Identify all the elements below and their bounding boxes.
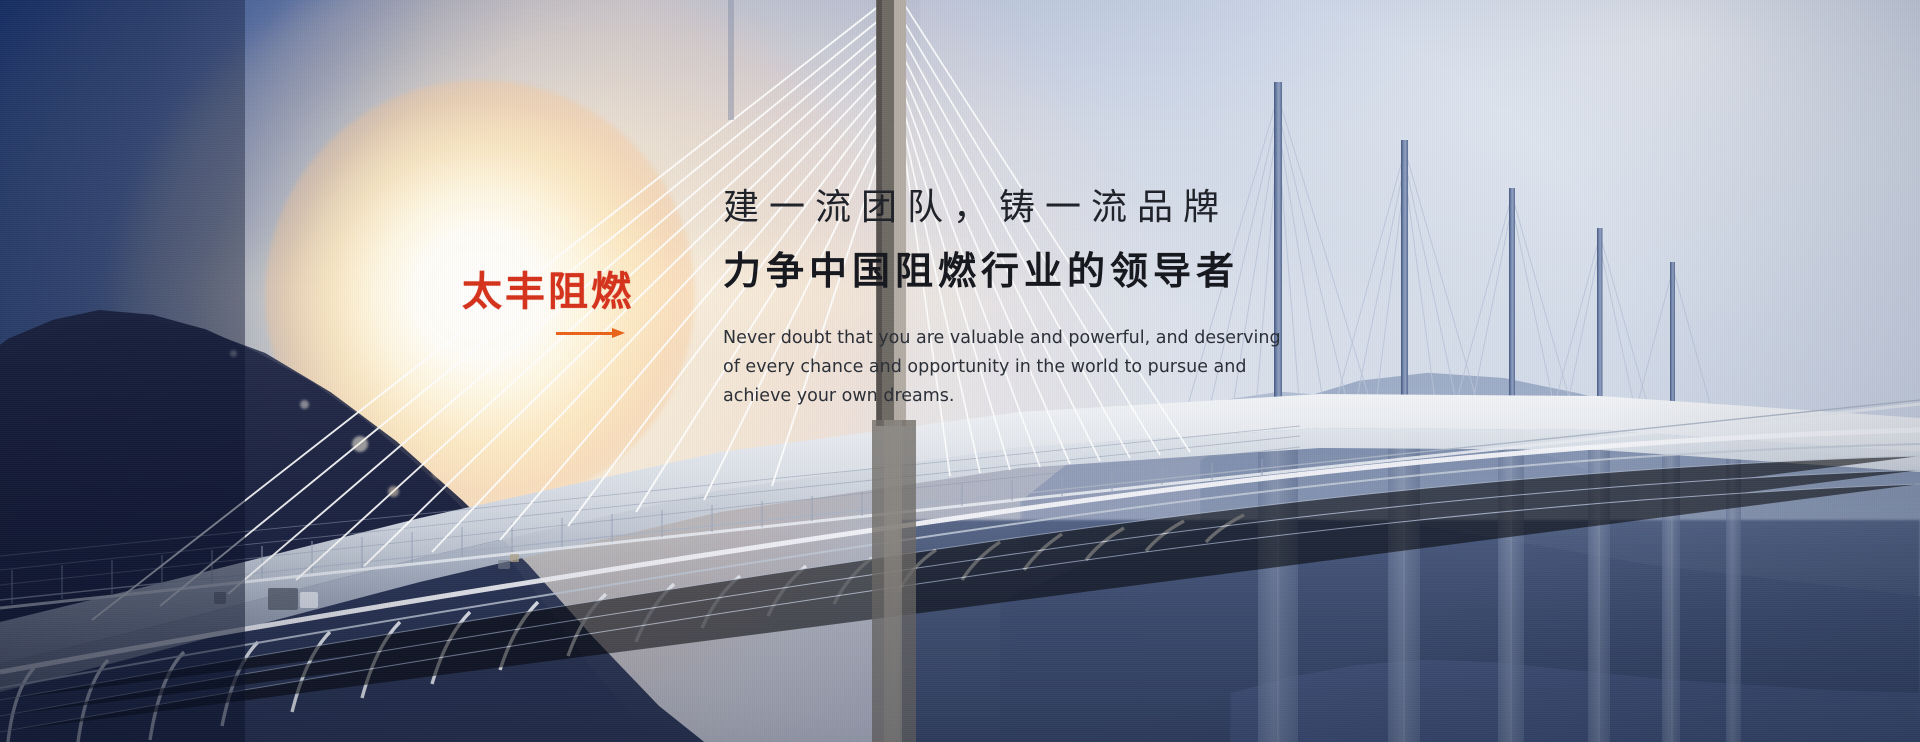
headline-primary: 建一流团队，铸一流品牌: [723, 185, 1523, 230]
hero-text-block: 建一流团队，铸一流品牌 力争中国阻燃行业的领导者 Never doubt tha…: [723, 185, 1523, 411]
arrow-right-icon: [556, 328, 626, 338]
hero-paragraph: Never doubt that you are valuable and po…: [723, 324, 1523, 411]
paragraph-line-3: achieve your own dreams.: [723, 382, 1523, 411]
paragraph-line-1: Never doubt that you are valuable and po…: [723, 324, 1523, 353]
hero-banner: 太丰阻燃 建一流团队，铸一流品牌 力争中国阻燃行业的领导者 Never doub…: [0, 0, 1920, 742]
arrow-head: [612, 328, 625, 338]
banner-content: 太丰阻燃 建一流团队，铸一流品牌 力争中国阻燃行业的领导者 Never doub…: [0, 0, 1920, 742]
paragraph-line-2: of every chance and opportunity in the w…: [723, 353, 1523, 382]
arrow-shaft: [556, 332, 618, 335]
headline-secondary: 力争中国阻燃行业的领导者: [723, 248, 1523, 296]
brand-logo[interactable]: 太丰阻燃: [462, 272, 662, 338]
brand-logo-text: 太丰阻燃: [462, 272, 662, 312]
